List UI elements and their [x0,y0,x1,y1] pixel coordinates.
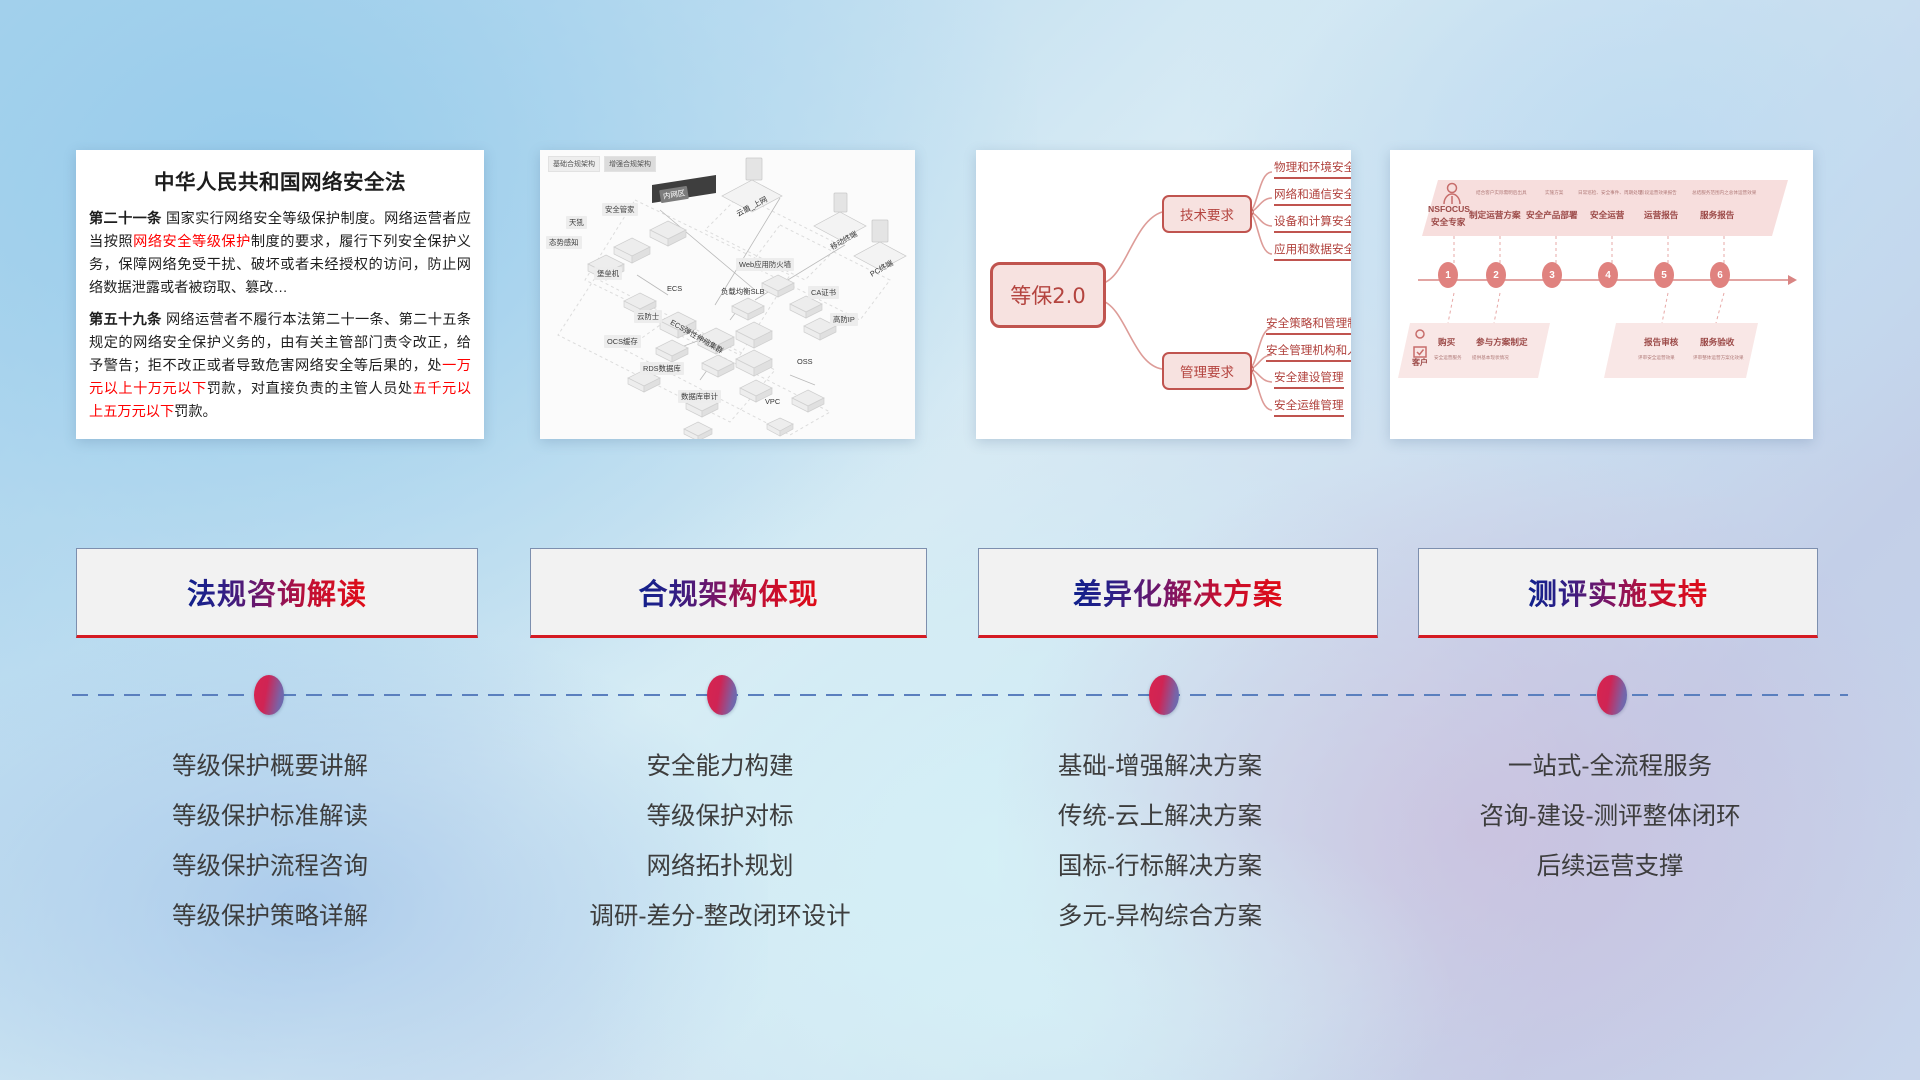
dashed-timeline-axis [72,694,1848,696]
process-step-sub-5: 阶段运营效果报告 [1640,190,1677,196]
process-expert-name-line2: 安全专家 [1431,216,1465,228]
process-step-sub-2: 结合客户实际需明后出具 [1476,190,1527,196]
law-title: 中华人民共和国网络安全法 [76,165,484,195]
headline-box-regulation-consulting[interactable]: 法规咨询解读 [76,548,478,638]
list-item: 等级保护概要讲解 [60,742,480,792]
mindmap-root-node[interactable]: 等保2.0 [990,262,1106,328]
process-step-sub-6: 总结服务范围内之总体运营效果 [1692,190,1756,196]
mindmap-leaf-policy-system: 安全策略和管理制度 [1266,315,1351,335]
arch-node-ca-certificate: CA证书 [808,286,839,299]
list-item: 等级保护流程咨询 [60,842,480,892]
arch-node-anti-ddos-ip: 高防IP [830,313,858,326]
list-item: 国标-行标解决方案 [950,842,1370,892]
law-run: 罚款，对直接负责的主管人员处 [207,381,413,397]
process-customer-sub-3: 评审安全运营效果 [1638,355,1675,361]
process-customer-title-4: 服务验收 [1700,336,1734,348]
list-item: 调研-差分-整改闭环设计 [510,892,930,942]
arch-node-database-audit: 数据库审计 [678,390,721,403]
process-step-number-6: 6 [1710,262,1730,288]
law-paragraph: 第五十九条 网络运营者不履行本法第二十一条、第二十五条规定的网络安全保护义务的，… [89,309,471,424]
law-article-number: 第五十九条 [89,312,162,328]
law-paragraph: 第二十一条 国家实行网络安全等级保护制度。网络运营者应当按照网络安全等级保护制度… [89,208,471,300]
process-step-title-6: 服务报告 [1700,209,1734,221]
arch-node-tianjiao: 天犼 [566,216,587,229]
process-step-number-5: 5 [1654,262,1674,288]
headline-box-label: 法规咨询解读 [187,571,367,613]
law-article-number: 第二十一条 [89,211,162,227]
list-item: 等级保护对标 [510,792,930,842]
law-body: 第二十一条 国家实行网络安全等级保护制度。网络运营者应当按照网络安全等级保护制度… [76,208,484,424]
card-dengbao-mindmap[interactable]: 等保2.0 技术要求 管理要求 物理和环境安全 网络和通信安全 设备和计算安全 … [976,150,1351,439]
feature-list-assessment-support: 一站式-全流程服务 咨询-建设-测评整体闭环 后续运营支撑 [1390,742,1830,892]
process-expert-name-line1: NSFOCUS [1428,204,1470,214]
arch-node-ecs: ECS [664,283,685,294]
headline-box-differentiated-solution[interactable]: 差异化解决方案 [978,548,1378,638]
headline-box-label: 测评实施支持 [1528,571,1708,613]
list-item: 等级保护策略详解 [60,892,480,942]
timeline-dot-2 [707,675,737,715]
arch-node-vpc: VPC [762,396,783,407]
process-customer-sub-1: 安全运营服务 [1434,355,1462,361]
list-item: 基础-增强解决方案 [950,742,1370,792]
timeline-dot-3 [1149,675,1179,715]
process-step-title-3: 安全产品部署 [1526,209,1578,221]
feature-list-regulation-consulting: 等级保护概要讲解 等级保护标准解读 等级保护流程咨询 等级保护策略详解 [60,742,480,942]
process-step-number-3: 3 [1542,262,1562,288]
headline-box-label: 差异化解决方案 [1073,571,1283,613]
list-item: 一站式-全流程服务 [1390,742,1830,792]
mindmap-leaf-device-compute: 设备和计算安全 [1274,213,1351,233]
list-item: 多元-异构综合方案 [950,892,1370,942]
process-step-number-1: 1 [1438,262,1458,288]
arch-node-cloud-defender: 云防士 [634,310,662,323]
mindmap-branch-technical[interactable]: 技术要求 [1162,195,1252,233]
list-item: 网络拓扑规划 [510,842,930,892]
list-item: 等级保护标准解读 [60,792,480,842]
process-customer-title-1: 购买 [1438,336,1455,348]
mindmap-leaf-operations: 安全运维管理 [1274,397,1344,417]
process-customer-title-3: 报告审核 [1644,336,1678,348]
list-item: 安全能力构建 [510,742,930,792]
architecture-diagram: 基础合规架构 增强合规架构 [540,150,915,439]
mindmap-leaf-org-personnel: 安全管理机构和人员 [1266,342,1351,362]
process-step-title-2: 制定运营方案 [1469,209,1521,221]
preview-cards-row: 中华人民共和国网络安全法 第二十一条 国家实行网络安全等级保护制度。网络运营者应… [0,150,1920,440]
list-item: 传统-云上解决方案 [950,792,1370,842]
arch-node-oss: OSS [794,356,816,367]
mindmap-leaf-network-comm: 网络和通信安全 [1274,186,1351,206]
card-service-process[interactable]: 1 2 3 4 5 6 NSFOCUS 安全专家 制定运营方案 安全产品部署 安… [1390,150,1813,439]
process-step-number-2: 2 [1486,262,1506,288]
timeline-dot-4 [1597,675,1627,715]
process-customer-actor-label: 客户 [1412,357,1428,368]
arch-node-security-butler: 安全管家 [602,203,638,216]
process-step-number-4: 4 [1598,262,1618,288]
list-item: 咨询-建设-测评整体闭环 [1390,792,1830,842]
law-run-highlight: 网络安全等级保护 [133,234,251,250]
law-run: 罚款。 [174,404,217,420]
headline-box-assessment-support[interactable]: 测评实施支持 [1418,548,1818,638]
list-item: 后续运营支撑 [1390,842,1830,892]
arch-node-waf: Web应用防火墙 [736,258,794,271]
arch-node-rds-database: RDS数据库 [640,362,684,375]
headline-box-label: 合规架构体现 [638,571,818,613]
mindmap-branch-management[interactable]: 管理要求 [1162,352,1252,390]
headline-box-compliance-architecture[interactable]: 合规架构体现 [530,548,927,638]
process-customer-sub-4: 评审整体运营方案化效果 [1693,355,1744,361]
process-step-title-4: 安全运营 [1590,209,1624,221]
feature-list-differentiated-solution: 基础-增强解决方案 传统-云上解决方案 国标-行标解决方案 多元-异构综合方案 [950,742,1370,942]
arch-node-bastion-host: 堡垒机 [594,267,622,280]
mindmap-leaf-construction: 安全建设管理 [1274,369,1344,389]
arch-node-situational-awareness: 态势感知 [546,236,582,249]
mindmap-diagram: 等保2.0 技术要求 管理要求 物理和环境安全 网络和通信安全 设备和计算安全 … [976,150,1351,439]
mindmap-leaf-physical-env: 物理和环境安全 [1274,159,1351,179]
timeline-dot-1 [254,675,284,715]
card-cybersecurity-law[interactable]: 中华人民共和国网络安全法 第二十一条 国家实行网络安全等级保护制度。网络运营者应… [76,150,484,439]
process-customer-title-2: 参与方案制定 [1476,336,1528,348]
arch-node-slb: 负载均衡SLB [718,285,768,298]
process-customer-sub-2: 提供基本现状情况 [1472,355,1509,361]
card-compliance-architecture[interactable]: 基础合规架构 增强合规架构 [540,150,915,439]
process-step-title-5: 运营报告 [1644,209,1678,221]
process-flow-diagram: 1 2 3 4 5 6 NSFOCUS 安全专家 制定运营方案 安全产品部署 安… [1390,150,1813,439]
process-step-sub-4: 日常巡检、安全事件、周期处理 [1578,190,1642,196]
mindmap-leaf-app-data: 应用和数据安全 [1274,241,1351,261]
arch-node-ocs-cache: OCS缓存 [604,335,641,348]
feature-list-compliance-architecture: 安全能力构建 等级保护对标 网络拓扑规划 调研-差分-整改闭环设计 [510,742,930,942]
process-step-sub-3: 实施方案 [1545,190,1563,196]
